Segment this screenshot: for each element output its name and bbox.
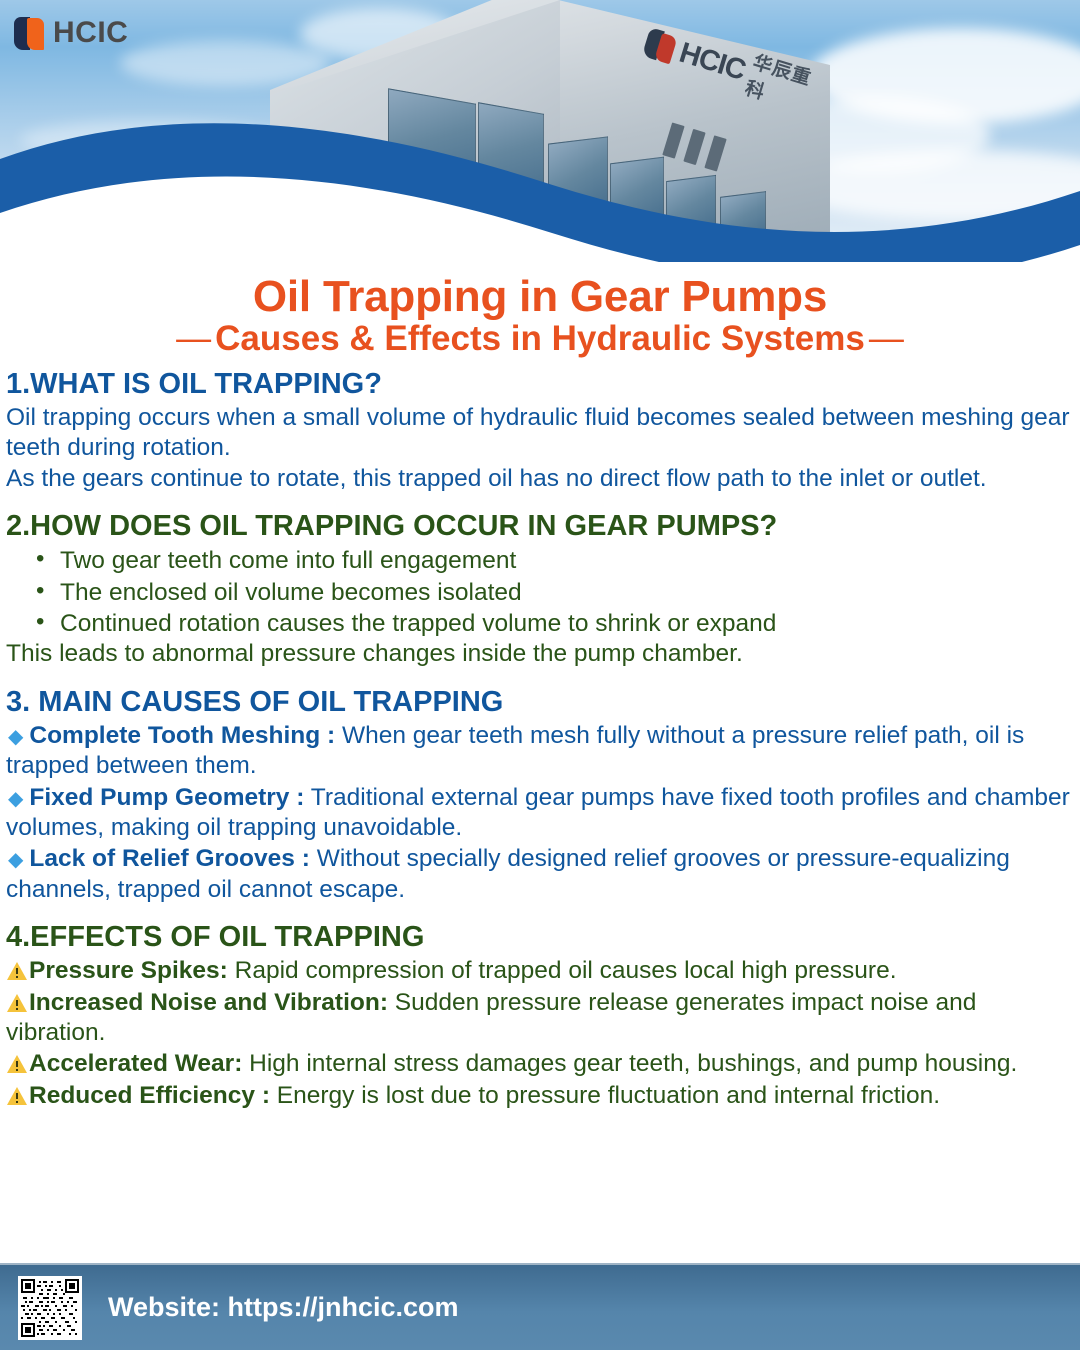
section-how-does-it-occur: 2.HOW DOES OIL TRAPPING OCCUR IN GEAR PU…	[6, 508, 1074, 670]
effect-text: High internal stress damages gear teeth,…	[249, 1050, 1017, 1077]
section-2-closing: This leads to abnormal pressure changes …	[6, 639, 1074, 669]
subtitle-text: Causes & Effects in Hydraulic Systems	[215, 319, 865, 358]
hcic-logo: HCIC	[14, 16, 128, 50]
page-title: Oil Trapping in Gear Pumps	[0, 272, 1080, 321]
section-2-bullet-list: Two gear teeth come into full engagement…	[6, 545, 1074, 639]
section-2-heading: 2.HOW DOES OIL TRAPPING OCCUR IN GEAR PU…	[6, 508, 1074, 544]
effect-label: Accelerated Wear:	[29, 1050, 242, 1077]
effect-item: Reduced Efficiency : Energy is lost due …	[6, 1081, 1074, 1111]
list-item: Two gear teeth come into full engagement	[34, 545, 1074, 576]
content-area: 1.WHAT IS OIL TRAPPING? Oil trapping occ…	[0, 360, 1080, 1112]
qr-code[interactable]	[18, 1276, 82, 1340]
list-item: The enclosed oil volume becomes isolated	[34, 577, 1074, 608]
website-label[interactable]: Website: https://jnhcic.com	[108, 1292, 459, 1323]
blue-wave-divider	[0, 63, 1080, 262]
cause-label: Lack of Relief Grooves	[29, 845, 295, 872]
effect-text: Rapid compression of trapped oil causes …	[235, 957, 897, 984]
effect-item: Increased Noise and Vibration: Sudden pr…	[6, 988, 1074, 1049]
subtitle-dash-right: —	[865, 319, 908, 358]
effect-item: Accelerated Wear: High internal stress d…	[6, 1049, 1074, 1079]
section-3-heading: 3. MAIN CAUSES OF OIL TRAPPING	[6, 684, 1074, 720]
cause-item: ◆Fixed Pump Geometry : Traditional exter…	[6, 783, 1074, 844]
page-subtitle: —Causes & Effects in Hydraulic Systems—	[0, 319, 1080, 359]
cause-separator: :	[302, 845, 310, 872]
cause-separator: :	[327, 722, 335, 749]
cause-separator: :	[296, 784, 304, 811]
cause-label: Fixed Pump Geometry	[29, 784, 289, 811]
diamond-bullet-icon: ◆	[6, 788, 29, 810]
warning-triangle-icon	[6, 993, 28, 1013]
list-item: Continued rotation causes the trapped vo…	[34, 608, 1074, 639]
cause-item: ◆Complete Tooth Meshing : When gear teet…	[6, 721, 1074, 782]
warning-triangle-icon	[6, 961, 28, 981]
section-effects: 4.EFFECTS OF OIL TRAPPING Pressure Spike…	[6, 919, 1074, 1111]
logo-wordmark: HCIC	[53, 16, 128, 50]
page-title-block: Oil Trapping in Gear Pumps —Causes & Eff…	[0, 262, 1080, 360]
cause-item: ◆Lack of Relief Grooves : Without specia…	[6, 844, 1074, 905]
section-1-paragraph: Oil trapping occurs when a small volume …	[6, 403, 1074, 464]
section-1-heading: 1.WHAT IS OIL TRAPPING?	[6, 366, 1074, 402]
effect-label: Pressure Spikes:	[29, 957, 228, 984]
effect-label: Reduced Efficiency :	[29, 1082, 270, 1109]
section-main-causes: 3. MAIN CAUSES OF OIL TRAPPING ◆Complete…	[6, 684, 1074, 906]
hero-banner: HCIC 华辰重科 HCIC	[0, 0, 1080, 262]
diamond-bullet-icon: ◆	[6, 726, 29, 748]
effect-text: Energy is lost due to pressure fluctuati…	[277, 1082, 940, 1109]
warning-triangle-icon	[6, 1086, 28, 1106]
footer-bar: Website: https://jnhcic.com	[0, 1265, 1080, 1350]
subtitle-dash-left: —	[172, 319, 215, 358]
section-what-is-oil-trapping: 1.WHAT IS OIL TRAPPING? Oil trapping occ…	[6, 366, 1074, 494]
cause-label: Complete Tooth Meshing	[29, 722, 320, 749]
warning-triangle-icon	[6, 1054, 28, 1074]
diamond-bullet-icon: ◆	[6, 849, 29, 871]
effect-item: Pressure Spikes: Rapid compression of tr…	[6, 956, 1074, 986]
hcic-logo-mark-icon	[14, 17, 44, 50]
effect-label: Increased Noise and Vibration:	[29, 989, 388, 1016]
section-4-heading: 4.EFFECTS OF OIL TRAPPING	[6, 919, 1074, 955]
section-1-paragraph: As the gears continue to rotate, this tr…	[6, 464, 1074, 494]
